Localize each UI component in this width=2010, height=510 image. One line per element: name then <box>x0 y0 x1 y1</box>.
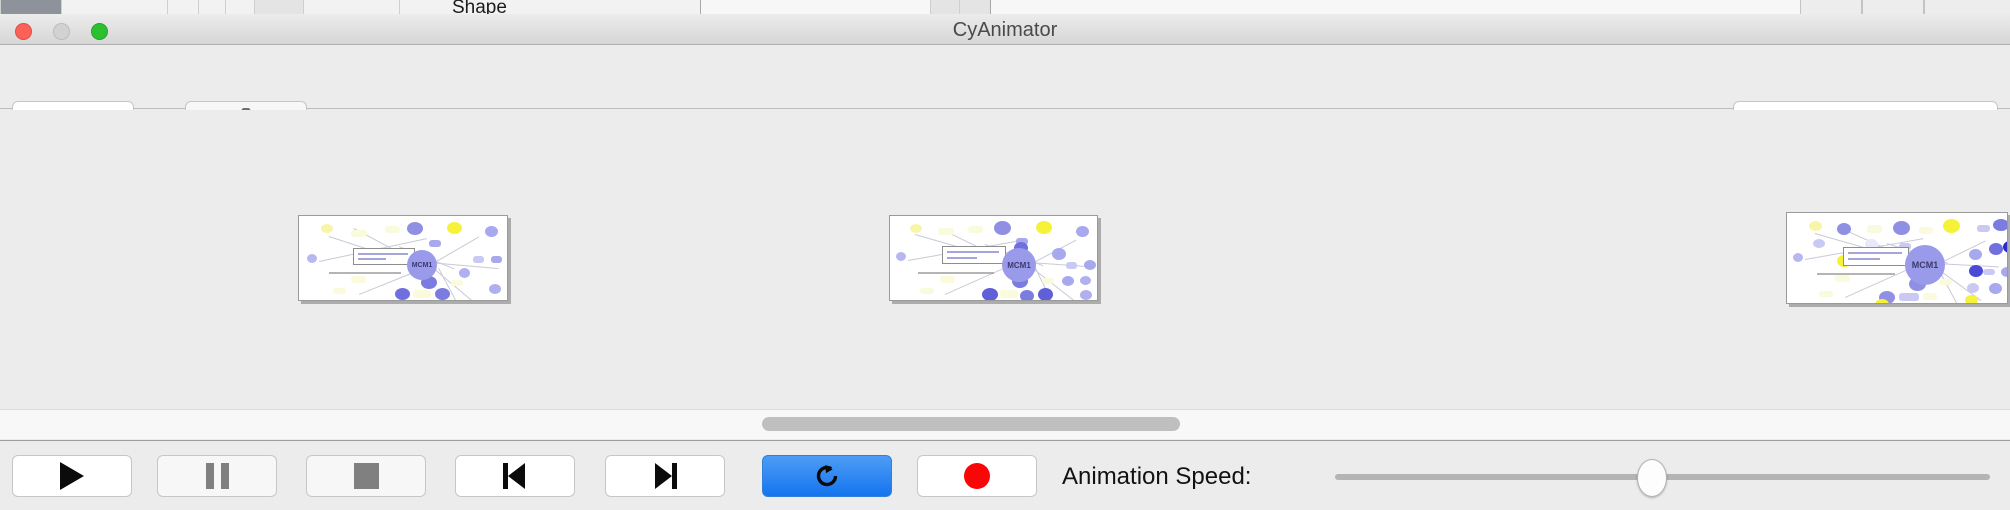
stop-button[interactable] <box>306 455 426 497</box>
bg-segment <box>0 0 62 14</box>
frame-thumbnail-3[interactable]: MCM1 <box>1786 212 2008 304</box>
cyanimator-window: Shape CyAnimator Clear All Frames <box>0 0 2010 510</box>
animation-speed-label: Animation Speed: <box>1062 463 1251 491</box>
transport-bar: Animation Speed: <box>0 440 2010 510</box>
network-tooltip <box>353 248 415 265</box>
stop-icon <box>354 463 379 489</box>
timeline-scrollbar[interactable] <box>0 409 2010 439</box>
background-shape-label: Shape <box>452 0 507 15</box>
bg-segment <box>1800 0 1862 14</box>
bg-segment <box>399 0 701 14</box>
bg-segment <box>303 0 400 14</box>
network-hub-node: MCM1 <box>1905 245 1945 285</box>
background-toolbar: Shape <box>0 0 1000 14</box>
play-icon <box>60 462 84 490</box>
bg-segment <box>930 0 960 14</box>
window-title: CyAnimator <box>0 19 2010 42</box>
animation-speed-slider[interactable] <box>1335 474 1990 480</box>
skip-back-icon <box>503 463 527 489</box>
bg-segment <box>225 0 255 14</box>
network-hub-node: MCM1 <box>407 250 437 280</box>
background-window-strip: Shape <box>0 0 2010 15</box>
loop-icon <box>812 461 842 491</box>
pause-button[interactable] <box>157 455 277 497</box>
bg-segment <box>1924 0 2010 14</box>
skip-to-end-button[interactable] <box>605 455 725 497</box>
bg-segment <box>198 0 226 14</box>
titlebar: CyAnimator <box>0 14 2010 45</box>
frame-thumbnail-1[interactable]: MCM1 <box>298 215 508 301</box>
network-preview: MCM1 <box>299 216 507 300</box>
bg-segment <box>959 0 991 14</box>
network-tooltip <box>1843 247 1909 266</box>
skip-forward-icon <box>653 463 677 489</box>
skip-to-start-button[interactable] <box>455 455 575 497</box>
play-button[interactable] <box>12 455 132 497</box>
pause-icon <box>206 463 229 489</box>
record-icon <box>964 463 990 489</box>
bg-segment <box>61 0 168 14</box>
timeline-panel[interactable]: MCM1 <box>0 110 2010 408</box>
network-preview: MCM1 <box>890 216 1097 300</box>
bg-segment <box>1862 0 1924 14</box>
network-hub-node: MCM1 <box>1002 248 1036 282</box>
network-preview: MCM1 <box>1787 213 2007 303</box>
scrollbar-thumb[interactable] <box>762 417 1180 431</box>
record-button[interactable] <box>917 455 1037 497</box>
toolbar: Clear All Frames <box>0 46 2010 109</box>
slider-thumb[interactable] <box>1637 459 1667 497</box>
bg-segment <box>254 0 304 14</box>
frame-thumbnail-2[interactable]: MCM1 <box>889 215 1098 301</box>
loop-button[interactable] <box>762 455 892 497</box>
bg-segment <box>167 0 199 14</box>
network-tooltip <box>942 246 1006 264</box>
